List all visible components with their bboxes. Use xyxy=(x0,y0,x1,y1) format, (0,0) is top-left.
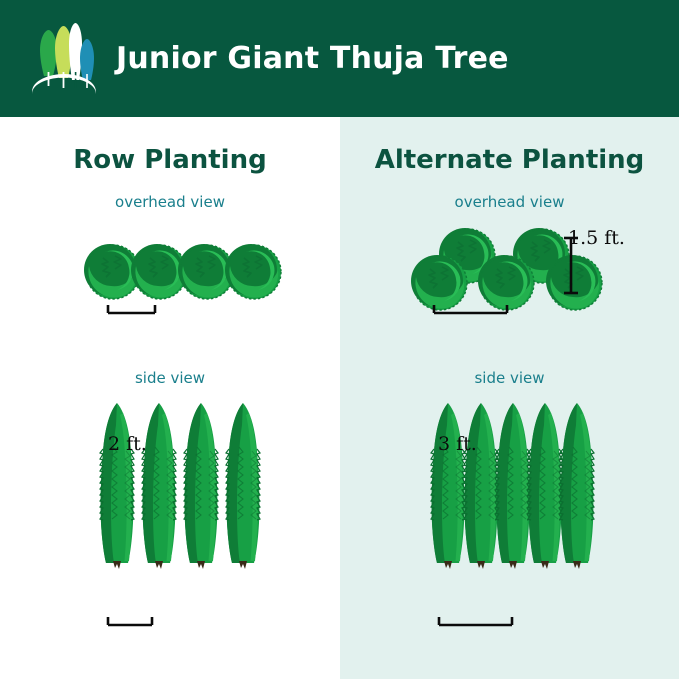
four-trees-logo xyxy=(26,22,98,96)
panel-row-planting: Row Planting overhead view side view xyxy=(0,117,340,679)
overhead-tree-row xyxy=(84,244,281,299)
header-bar: Junior Giant Thuja Tree xyxy=(0,0,679,117)
overhead-measure-bracket-alternate xyxy=(434,305,507,313)
page-title: Junior Giant Thuja Tree xyxy=(116,41,509,76)
overhead-view-label-row: overhead view xyxy=(0,193,340,211)
overhead-spacing-label-row: 2 ft. xyxy=(108,433,147,455)
overhead-view-label-alternate: overhead view xyxy=(340,193,679,211)
panel-alternate-planting: Alternate Planting overhead view side vi… xyxy=(340,117,679,679)
side-view-label-alternate: side view xyxy=(340,369,679,387)
infographic-root: Junior Giant Thuja Tree Row Planting ove… xyxy=(0,0,679,679)
overhead-measure-bracket-row xyxy=(108,305,155,313)
side-tree-row xyxy=(100,403,260,569)
side-view-label-row: side view xyxy=(0,369,340,387)
panel-title-alternate: Alternate Planting xyxy=(340,145,679,175)
side-measure-bracket-row xyxy=(108,617,152,625)
row-offset-label-alternate: 1.5 ft. xyxy=(568,227,625,249)
overhead-spacing-label-alternate: 3 ft. xyxy=(438,433,477,455)
panel-title-row: Row Planting xyxy=(0,145,340,175)
side-measure-bracket-alternate xyxy=(439,617,512,625)
side-tree-cluster-alternate xyxy=(431,403,594,569)
